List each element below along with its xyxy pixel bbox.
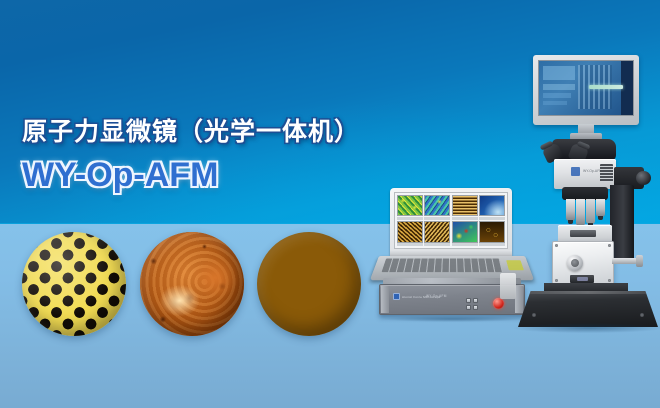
granite-anti-vibration-base: [518, 291, 658, 327]
microscope-vent-grille: [600, 164, 613, 182]
software-panel-a: [543, 66, 575, 80]
scanner-screw: [555, 244, 558, 247]
scan-thumb-caption: [424, 243, 450, 246]
scan-thumbnail: [424, 221, 450, 246]
scanner-screw: [555, 279, 558, 282]
scan-thumb-caption: [452, 243, 478, 246]
scan-thumbnail: [424, 195, 450, 220]
keypad-button-1[interactable]: [466, 298, 471, 303]
scan-thumb-1-image: [397, 195, 423, 216]
scanner-nameplate: [570, 275, 594, 283]
scanner-support-rod: [612, 258, 638, 264]
monitor-screen: [538, 60, 634, 116]
keypad-button-3[interactable]: [466, 305, 471, 310]
base-foot-right: [640, 313, 644, 317]
base-highlight: [518, 291, 658, 294]
afm-scanner-upper: [558, 225, 612, 242]
title-block: 原子力显微镜（光学一体机） WY-Op-AFM: [22, 118, 360, 192]
objective-lens-1: [566, 199, 575, 221]
scan-thumb-6-image: [424, 221, 450, 242]
software-panel-b: [543, 84, 575, 90]
scan-thumb-5-image: [397, 221, 423, 242]
cantilever-probe-view: [589, 85, 623, 89]
scanner-slot: [570, 230, 596, 237]
scanner-adjust-knob[interactable]: [567, 255, 583, 271]
software-panel-d: [543, 101, 567, 105]
product-banner: 原子力显微镜（光学一体机） WY-Op-AFM: [0, 0, 660, 408]
scan-thumb-3-image: [452, 195, 478, 216]
base-foot-left: [532, 313, 536, 317]
keypad-button-4[interactable]: [473, 305, 478, 310]
topography-texture: [140, 232, 244, 336]
sample-circle-topography: [140, 232, 244, 336]
objective-lens-4: [596, 199, 605, 217]
page-title-chinese: 原子力显微镜（光学一体机）: [22, 118, 360, 147]
sample-circle-nanoparticle: [257, 232, 361, 336]
laptop-keyboard[interactable]: [382, 259, 503, 273]
scan-thumb-caption: [424, 217, 450, 220]
keypad-button-2[interactable]: [473, 298, 478, 303]
controller-keypad[interactable]: [466, 298, 478, 310]
scan-thumb-caption: [397, 243, 423, 246]
brand-mark-icon: [393, 293, 400, 300]
laptop-lid: [390, 188, 512, 256]
auxiliary-stage-module: [500, 273, 516, 299]
nanoparticle-texture: [257, 232, 361, 336]
scanner-screw: [608, 279, 611, 282]
laptop-screen: [394, 192, 508, 249]
microscope-brand-mark-icon: [571, 167, 580, 176]
objective-tip-4: [598, 216, 603, 220]
scanner-screw: [608, 244, 611, 247]
sample-circle-dot-lattice: [22, 232, 126, 336]
scan-thumbnail: [452, 221, 478, 246]
controller-model-label: WY-Op-AFM: [426, 294, 447, 298]
scan-thumb-caption: [397, 217, 423, 220]
objective-tip-1: [568, 220, 573, 224]
scan-thumbnail: [397, 195, 423, 220]
microscope-group: WY-Op-AFM: [500, 55, 660, 355]
scan-thumb-7-image: [452, 221, 478, 242]
lcd-monitor: [533, 55, 639, 125]
objective-lens-2: [576, 199, 585, 226]
microscope-upper-body: WY-Op-AFM: [554, 159, 616, 189]
afm-scanner-head: [552, 241, 614, 285]
scan-thumb-caption: [452, 217, 478, 220]
scan-thumbnail: [397, 221, 423, 246]
software-panel-c: [543, 93, 571, 98]
controller-left-rail: [381, 286, 389, 313]
illumination-knob[interactable]: [636, 171, 651, 185]
microscope-shadow: [514, 323, 660, 333]
scan-thumb-2-image: [424, 195, 450, 216]
scan-thumbnail: [452, 195, 478, 220]
objective-lens-3: [586, 199, 595, 224]
scanner-rod-cap: [636, 255, 643, 267]
product-model-name: WY-Op-AFM: [22, 158, 360, 192]
dot-lattice-texture: [22, 232, 126, 336]
